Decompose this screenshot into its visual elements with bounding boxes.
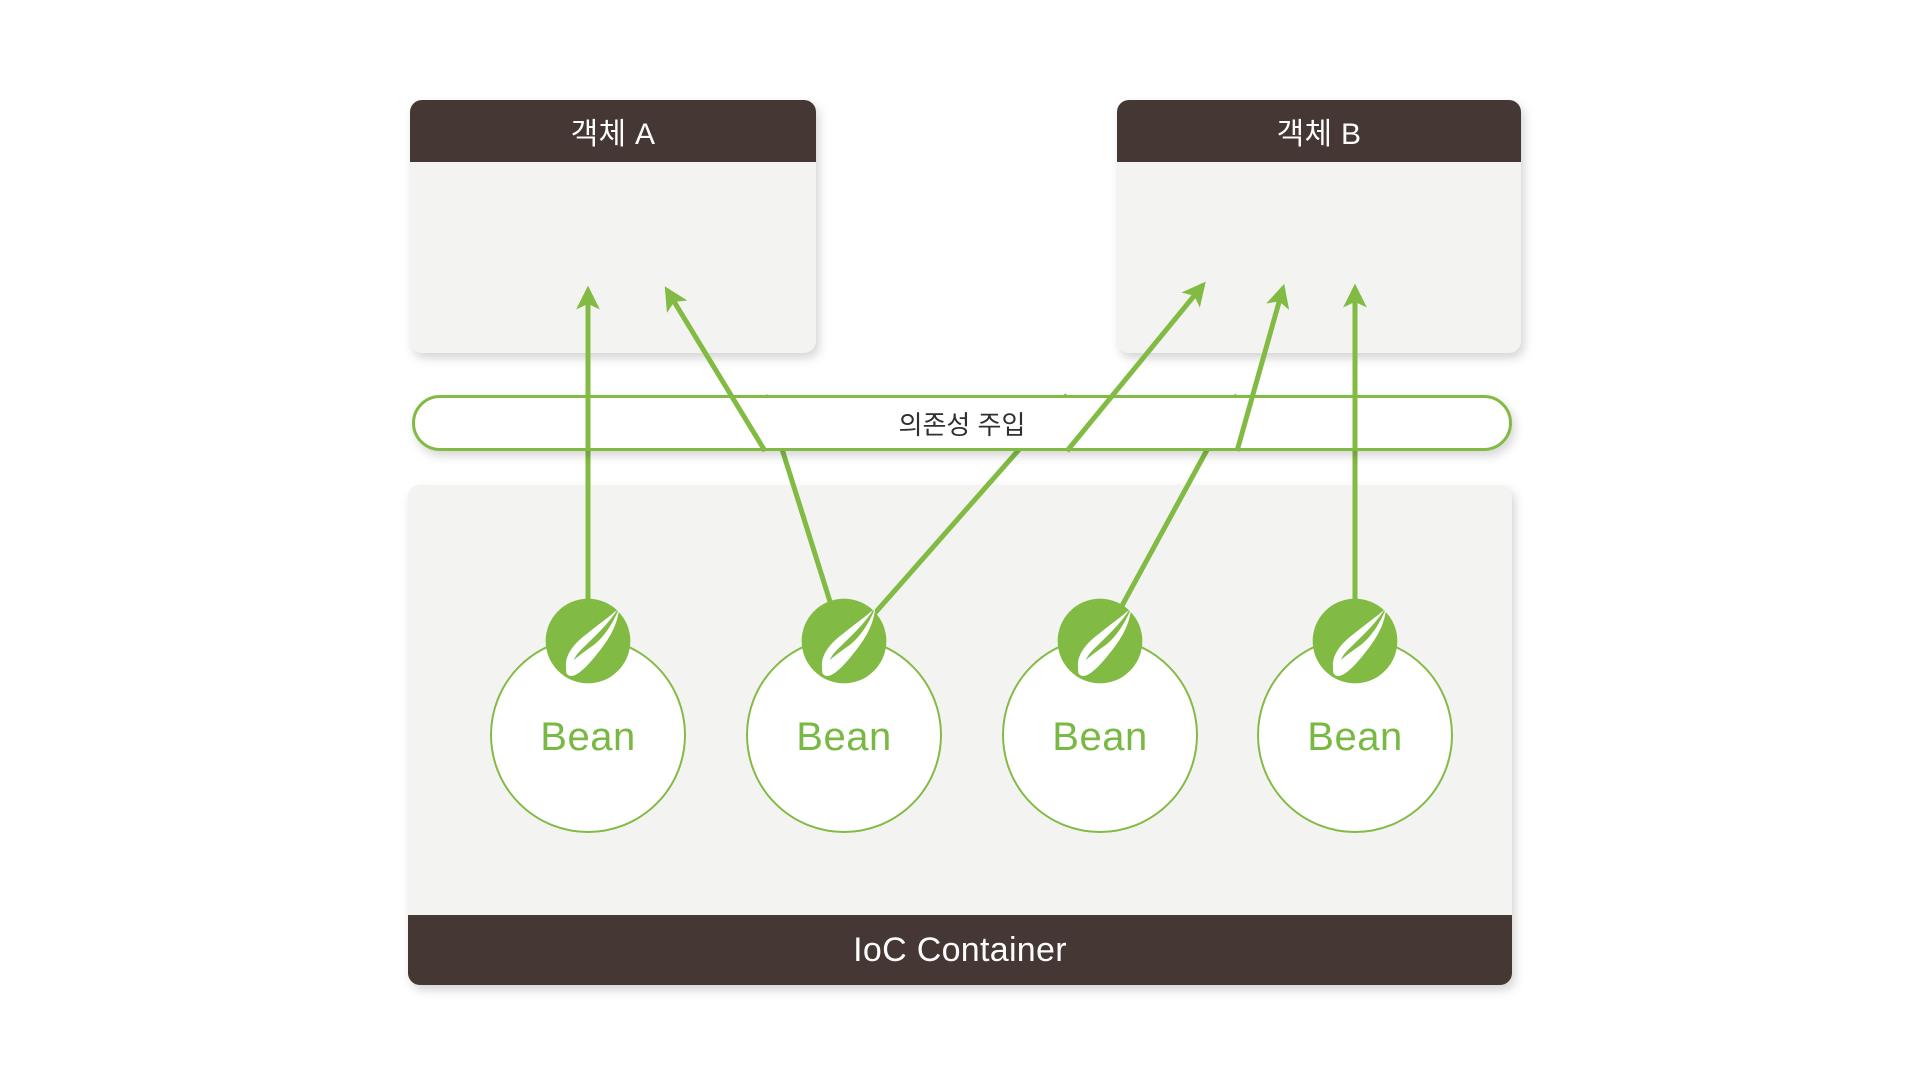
- bean-node-1[interactable]: Bean: [490, 637, 686, 833]
- bean-node-2[interactable]: Bean: [746, 637, 942, 833]
- spring-leaf-icon: [1054, 595, 1146, 687]
- bean-label-3: Bean: [1052, 715, 1147, 760]
- bean-node-4[interactable]: Bean: [1257, 637, 1453, 833]
- spring-leaf-icon: [1309, 595, 1401, 687]
- spring-leaf-icon: [798, 595, 890, 687]
- connector-lines-layer: [0, 0, 1920, 1080]
- dependency-injection-label: 의존성 주입: [899, 405, 1026, 442]
- bean-label-2: Bean: [796, 715, 891, 760]
- bean-node-3[interactable]: Bean: [1002, 637, 1198, 833]
- diagram-canvas: 객체 A 객체 B IoC Container: [0, 0, 1920, 1080]
- spring-leaf-icon: [542, 595, 634, 687]
- dependency-injection-bar[interactable]: 의존성 주입: [412, 395, 1512, 451]
- bean-label-4: Bean: [1307, 715, 1402, 760]
- bean-label-1: Bean: [540, 715, 635, 760]
